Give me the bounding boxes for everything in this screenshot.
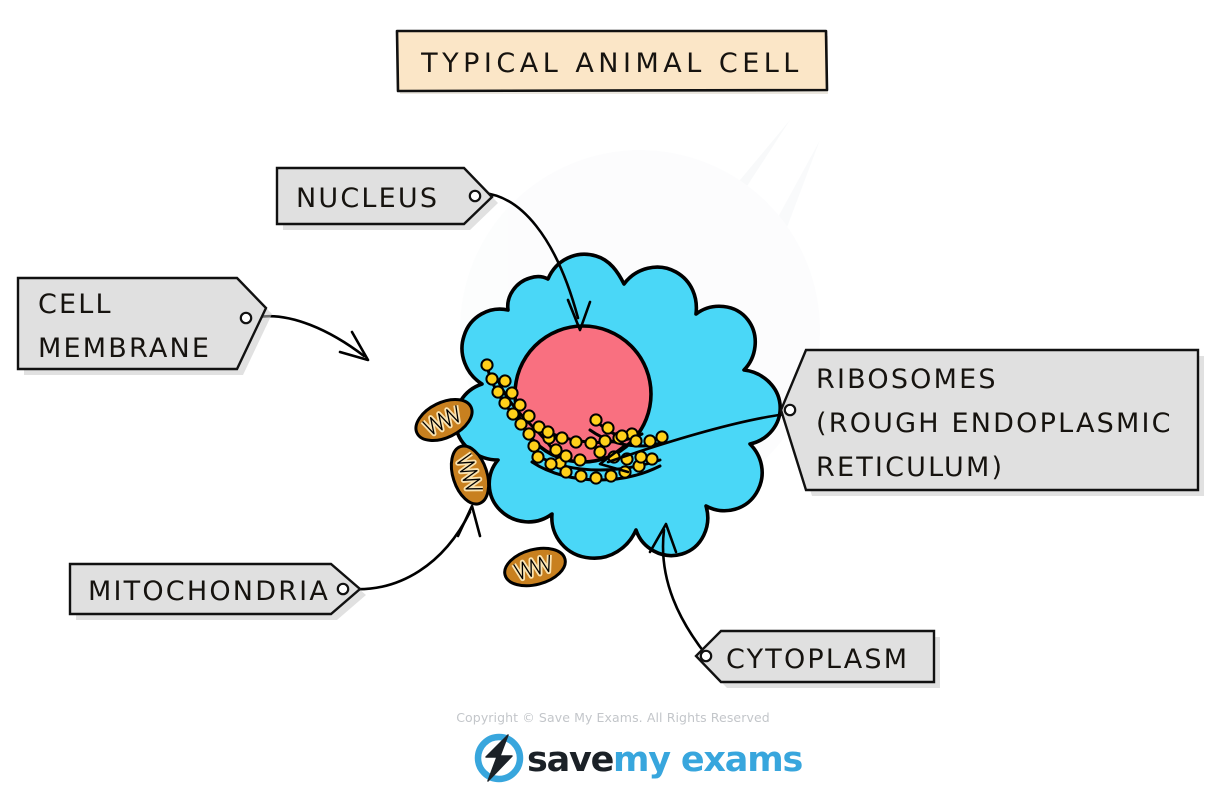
tag-hole-nucleus (470, 191, 480, 201)
copyright-text: Copyright © Save My Exams. All Rights Re… (456, 710, 770, 725)
diagram-canvas: TYPICAL ANIMAL CELL (0, 0, 1226, 796)
arrowhead-mitochondria (458, 506, 480, 536)
label-ribosomes-line-3: RETICULUM) (816, 452, 1004, 483)
label-nucleus-line-1: NUCLEUS (296, 183, 439, 214)
label-mitochondria-line-1: MITOCHONDRIA (88, 576, 330, 607)
label-ribosomes-line-2: (ROUGH ENDOPLASMIC (816, 408, 1173, 439)
tag-hole-cytoplasm (701, 651, 711, 661)
logo-word-save: save (527, 740, 614, 780)
leader-mitochondria (351, 512, 470, 589)
label-tag-cytoplasm[interactable]: CYTOPLASM (696, 631, 940, 688)
label-tag-cell-membrane[interactable]: CELL MEMBRANE (18, 278, 272, 375)
logo-word-myexams: my exams (613, 740, 802, 780)
page-title: TYPICAL ANIMAL CELL (420, 48, 803, 79)
label-tag-mitochondria[interactable]: MITOCHONDRIA (70, 564, 366, 620)
leader-cell-membrane (258, 316, 364, 356)
tag-hole-cell-membrane (241, 313, 251, 323)
mitochondrion (501, 542, 570, 592)
label-tag-ribosomes[interactable]: RIBOSOMES (ROUGH ENDOPLASMIC RETICULUM) (781, 350, 1204, 496)
tag-hole-mitochondria (338, 584, 348, 594)
label-tag-nucleus[interactable]: NUCLEUS (277, 168, 498, 230)
animal-cell-diagram: TYPICAL ANIMAL CELL (0, 0, 1226, 796)
label-cell-membrane-line-2: MEMBRANE (38, 333, 211, 364)
label-ribosomes-line-1: RIBOSOMES (816, 364, 998, 395)
tag-hole-ribosomes (785, 405, 795, 415)
label-cytoplasm-line-1: CYTOPLASM (726, 644, 909, 675)
title-box: TYPICAL ANIMAL CELL (397, 31, 828, 94)
save-my-exams-logo: save my exams (478, 735, 802, 781)
label-cell-membrane-line-1: CELL (38, 289, 113, 320)
lightning-bolt-circle-icon (478, 735, 520, 781)
